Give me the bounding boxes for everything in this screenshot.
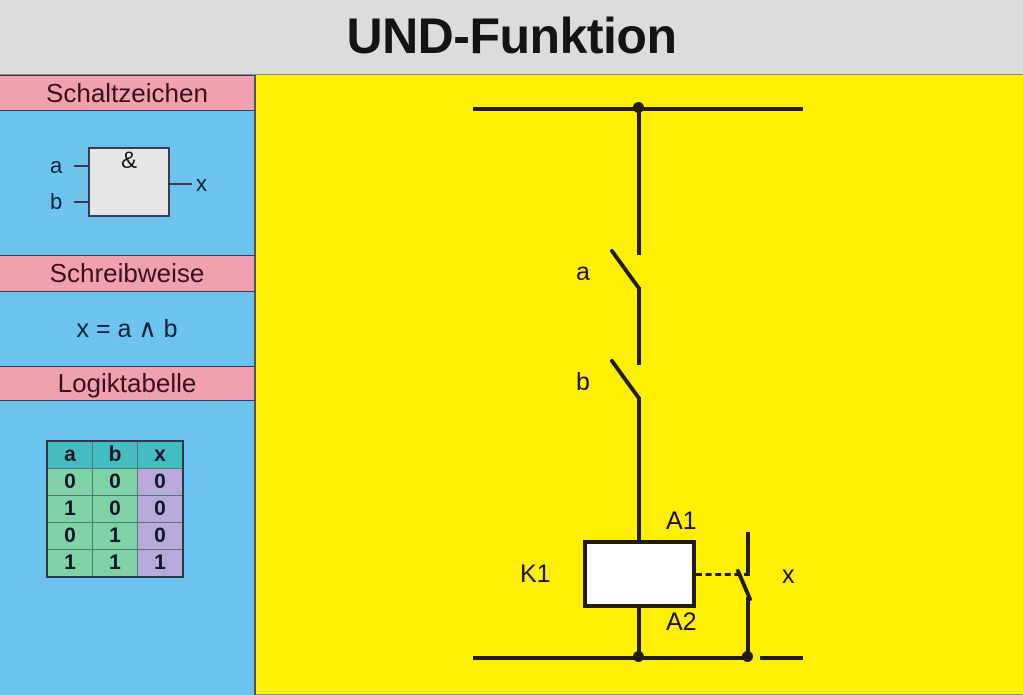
switch-b-label: b xyxy=(576,368,590,397)
contact-x-label: x xyxy=(782,561,795,590)
boolean-formula: x = a ∧ b xyxy=(0,292,254,366)
table-header-b: b xyxy=(93,441,138,469)
terminal-a1-label: A1 xyxy=(666,507,697,536)
title-bar: UND-Funktion xyxy=(0,0,1023,75)
table-row: 0 0 0 xyxy=(47,469,183,496)
cell-b: 0 xyxy=(93,469,138,496)
gate-input-b-label: b xyxy=(50,189,62,215)
table-row: 1 1 1 xyxy=(47,550,183,578)
section-header-logiktabelle: Logiktabelle xyxy=(0,366,254,401)
wire-contact-x-bottom xyxy=(746,597,750,658)
truth-table-container: a b x 0 0 0 1 0 0 xyxy=(46,440,184,578)
bottom-junction-dot-contact xyxy=(742,651,753,662)
logic-gate-symbol: a b & x xyxy=(0,111,254,255)
truth-table: a b x 0 0 0 1 0 0 xyxy=(46,440,184,578)
switch-b-contact[interactable] xyxy=(608,355,648,405)
cell-b: 1 xyxy=(93,523,138,550)
cell-a: 0 xyxy=(47,469,93,496)
bottom-rail-left-segment xyxy=(473,656,745,660)
table-header-a: a xyxy=(47,441,93,469)
bottom-junction-dot-coil xyxy=(633,651,644,662)
switch-a-label: a xyxy=(576,258,590,287)
cell-x: 1 xyxy=(138,550,184,578)
table-header-row: a b x xyxy=(47,441,183,469)
cell-x: 0 xyxy=(138,469,184,496)
wire-switch-a-to-b xyxy=(637,287,641,365)
cell-x: 0 xyxy=(138,523,184,550)
cell-b: 1 xyxy=(93,550,138,578)
wire-rail-to-switch-a xyxy=(637,107,641,255)
terminal-a2-label: A2 xyxy=(666,608,697,637)
gate-output-x-label: x xyxy=(196,171,207,197)
gate-output-lead xyxy=(170,183,192,185)
cell-a: 1 xyxy=(47,550,93,578)
table-header-x: x xyxy=(138,441,184,469)
gate-and-symbol: & xyxy=(88,147,170,175)
wire-switch-b-to-coil xyxy=(637,397,641,542)
page-title: UND-Funktion xyxy=(0,0,1023,72)
section-header-schaltzeichen: Schaltzeichen xyxy=(0,75,254,111)
cell-a: 1 xyxy=(47,496,93,523)
relay-coil-k1 xyxy=(583,540,696,608)
gate-input-a-label: a xyxy=(50,153,62,179)
cell-x: 0 xyxy=(138,496,184,523)
circuit-diagram: a b K1 A1 A2 x xyxy=(256,75,1023,695)
info-panel: Schaltzeichen a b & x Schreibweise x = a… xyxy=(0,75,256,695)
cell-a: 0 xyxy=(47,523,93,550)
coil-label-k1: K1 xyxy=(520,560,551,589)
switch-a-contact[interactable] xyxy=(608,245,648,295)
section-header-schreibweise: Schreibweise xyxy=(0,255,254,292)
cell-b: 0 xyxy=(93,496,138,523)
table-row: 1 0 0 xyxy=(47,496,183,523)
slide-root: UND-Funktion Schaltzeichen a b & x Schre… xyxy=(0,0,1023,695)
table-row: 0 1 0 xyxy=(47,523,183,550)
bottom-rail-right-segment xyxy=(760,656,803,660)
